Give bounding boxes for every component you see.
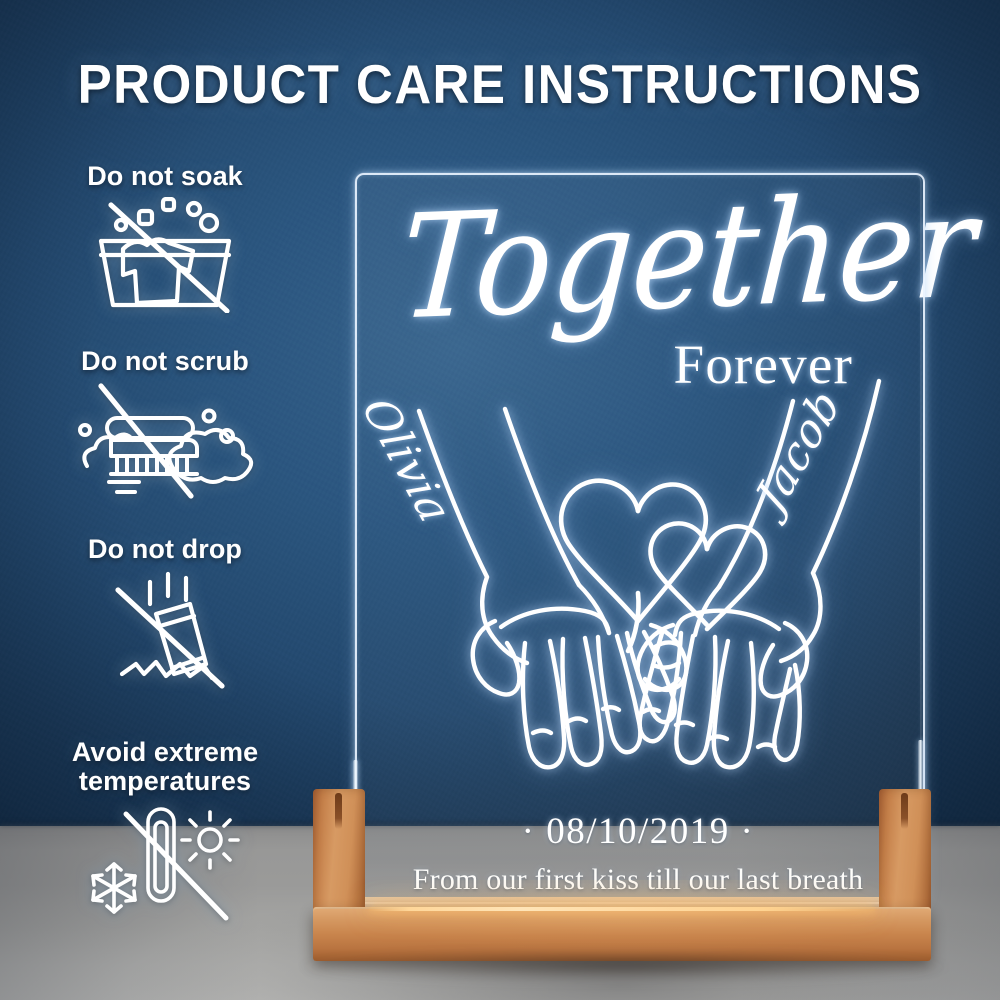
care-item-do-not-scrub: Do not scrub xyxy=(0,347,330,500)
care-label-avoid-extreme-line1: Avoid extreme xyxy=(0,738,330,767)
care-label-avoid-extreme-line2: temperatures xyxy=(0,767,330,796)
no-drop-breaking-icon xyxy=(82,570,248,696)
product-care-instructions-image: PRODUCT CARE INSTRUCTIONS Do not soak xyxy=(0,0,1000,1000)
base-slot-left xyxy=(335,793,342,829)
plaque-headline-serif: Forever xyxy=(355,333,853,396)
care-item-do-not-soak: Do not soak xyxy=(0,162,330,313)
care-label-do-not-scrub: Do not scrub xyxy=(0,347,330,376)
base-slot-right xyxy=(901,793,908,829)
no-extreme-temperature-icon xyxy=(70,802,260,928)
no-scrub-brush-icon xyxy=(65,382,265,500)
no-soak-basin-icon xyxy=(77,197,253,313)
care-label-do-not-drop: Do not drop xyxy=(0,535,330,564)
care-item-avoid-extreme-temperatures: Avoid extreme temperatures xyxy=(0,738,330,928)
care-item-do-not-drop: Do not drop xyxy=(0,535,330,696)
ambient-floor-glow xyxy=(300,880,960,1000)
plaque-headline-script: Together xyxy=(397,185,883,336)
care-label-do-not-soak: Do not soak xyxy=(0,162,330,191)
care-instructions-list: Do not soak xyxy=(0,0,340,1000)
